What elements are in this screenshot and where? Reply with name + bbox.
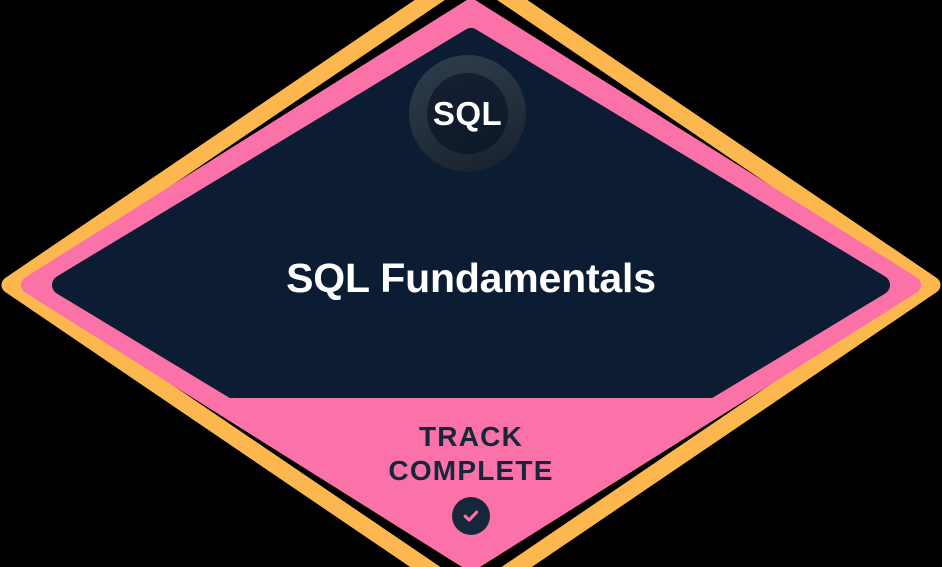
badge-diamond-graphic: [0, 0, 942, 567]
track-completion-badge: SQL SQL Fundamentals TRACK COMPLETE: [0, 0, 942, 567]
